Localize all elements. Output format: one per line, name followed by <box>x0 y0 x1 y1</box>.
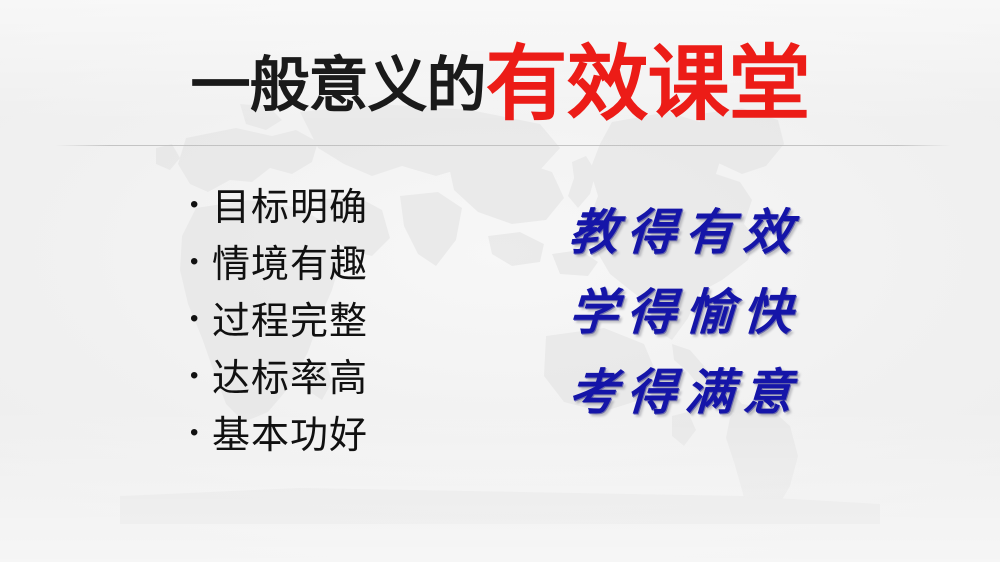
list-item-label: 情境有趣 <box>212 245 368 283</box>
bullet-icon: • <box>190 250 212 274</box>
list-item-label: 目标明确 <box>212 188 368 226</box>
calligraphy-line: 考得满意 <box>518 352 852 432</box>
title-highlight: 有效课堂 <box>485 37 809 132</box>
list-item-label: 达标率高 <box>212 359 368 397</box>
list-item: • 达标率高 <box>190 349 470 406</box>
list-item: • 情境有趣 <box>190 235 470 292</box>
calligraphy-line: 教得有效 <box>518 192 852 272</box>
bullet-icon: • <box>190 307 212 331</box>
world-map-watermark <box>0 104 1000 524</box>
presentation-slide: 一般意义的有效课堂 • 目标明确 • 情境有趣 • 过程完整 • 达标率高 • … <box>0 0 1000 562</box>
calligraphy-block: 教得有效 学得愉快 考得满意 <box>520 192 850 432</box>
bullet-icon: • <box>190 421 212 445</box>
list-item: • 过程完整 <box>190 292 470 349</box>
page-title: 一般意义的有效课堂 <box>0 38 1000 120</box>
list-item-label: 基本功好 <box>212 416 368 454</box>
list-item: • 目标明确 <box>190 178 470 235</box>
title-prefix: 一般意义的 <box>190 51 485 121</box>
bullet-list: • 目标明确 • 情境有趣 • 过程完整 • 达标率高 • 基本功好 <box>190 178 470 463</box>
bullet-icon: • <box>190 193 212 217</box>
title-divider <box>55 145 951 146</box>
list-item: • 基本功好 <box>190 406 470 463</box>
bullet-icon: • <box>190 364 212 388</box>
list-item-label: 过程完整 <box>212 302 368 340</box>
calligraphy-line: 学得愉快 <box>518 272 852 352</box>
